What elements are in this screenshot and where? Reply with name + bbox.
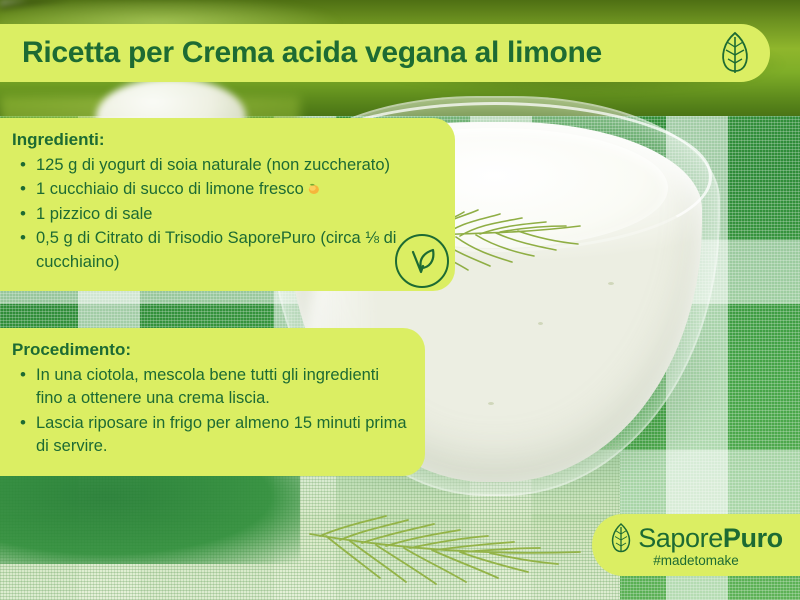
dill-sprig-bottom-icon — [300, 512, 590, 598]
logo-row: SaporePuro — [609, 523, 783, 554]
logo-name: SaporePuro — [638, 523, 783, 554]
procedure-heading: Procedimento: — [12, 340, 409, 360]
page-title: Ricetta per Crema acida vegana al limone — [22, 36, 716, 70]
list-item: 125 g di yogurt di soia naturale (non zu… — [12, 154, 439, 177]
recipe-card: Ricetta per Crema acida vegana al limone… — [0, 0, 800, 600]
list-item: Lascia riposare in frigo per almeno 15 m… — [12, 412, 409, 459]
title-banner: Ricetta per Crema acida vegana al limone — [0, 24, 770, 82]
list-item: In una ciotola, mescola bene tutti gli i… — [12, 364, 409, 411]
list-item: 1 cucchiaio di succo di limone fresco — [12, 178, 439, 201]
procedure-list: In una ciotola, mescola bene tutti gli i… — [12, 364, 409, 459]
procedure-panel: Procedimento: In una ciotola, mescola be… — [0, 328, 425, 476]
brand-logo: SaporePuro #madetomake — [592, 514, 800, 576]
leaf-icon — [609, 523, 633, 553]
list-item: 1 pizzico di sale — [12, 203, 439, 226]
ingredients-heading: Ingredienti: — [12, 130, 439, 150]
lemon-icon — [306, 181, 321, 196]
list-item: 0,5 g di Citrato di Trisodio SaporePuro … — [12, 227, 439, 274]
ingredients-list: 125 g di yogurt di soia naturale (non zu… — [12, 154, 439, 274]
ingredients-panel: Ingredienti: 125 g di yogurt di soia nat… — [0, 118, 455, 291]
logo-tagline: #madetomake — [653, 553, 739, 568]
leaf-icon — [718, 31, 752, 75]
vegan-leaf-badge-icon — [393, 232, 451, 290]
background-photo — [0, 0, 800, 600]
